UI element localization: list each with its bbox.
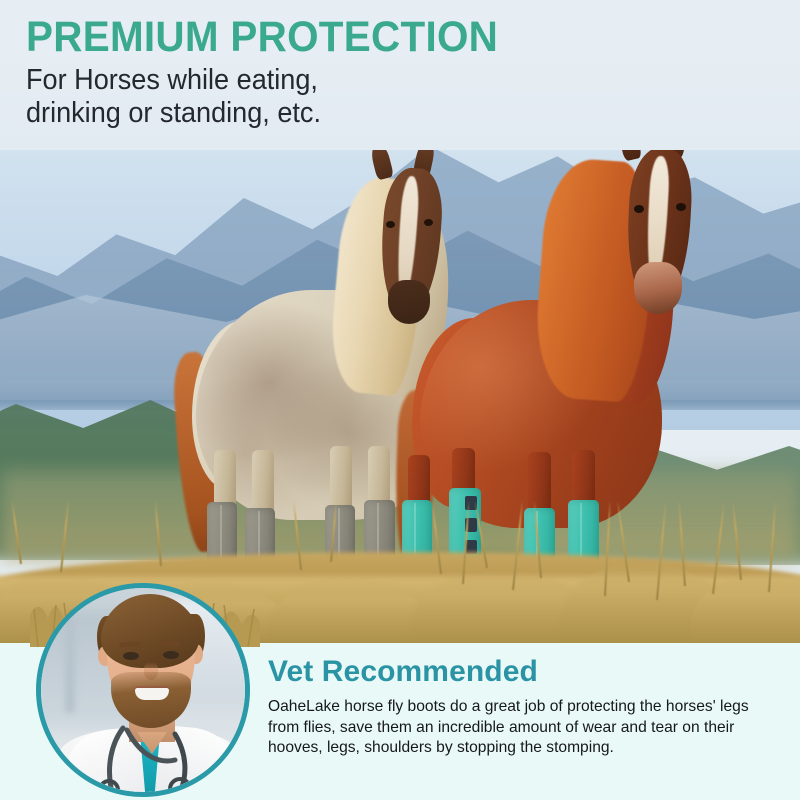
vet-avatar: [36, 583, 250, 797]
vet-recommended-body: OaheLake horse fly boots do a great job …: [268, 697, 780, 759]
avatar-eye-left: [123, 652, 139, 660]
subtitle-line-2: drinking or standing, etc.: [26, 97, 321, 130]
horse-right-eye-right: [676, 203, 686, 211]
avatar-smile: [135, 688, 169, 700]
product-infographic: PREMIUM PROTECTION For Horses while eati…: [0, 0, 800, 800]
horse-left-muzzle: [388, 280, 430, 324]
page-subtitle: For Horses while eating, drinking or sta…: [26, 64, 321, 130]
horse-left-eye-left: [386, 221, 395, 228]
subtitle-line-1: For Horses while eating,: [26, 64, 321, 97]
horse-right-muzzle: [634, 262, 682, 314]
avatar-background-pole: [65, 618, 75, 713]
horse-right-eye-left: [634, 205, 644, 213]
avatar-eye-right: [163, 651, 179, 659]
vet-recommended-heading: Vet Recommended: [268, 655, 538, 689]
page-title: PREMIUM PROTECTION: [26, 14, 498, 60]
horse-left-eye-right: [424, 219, 433, 226]
